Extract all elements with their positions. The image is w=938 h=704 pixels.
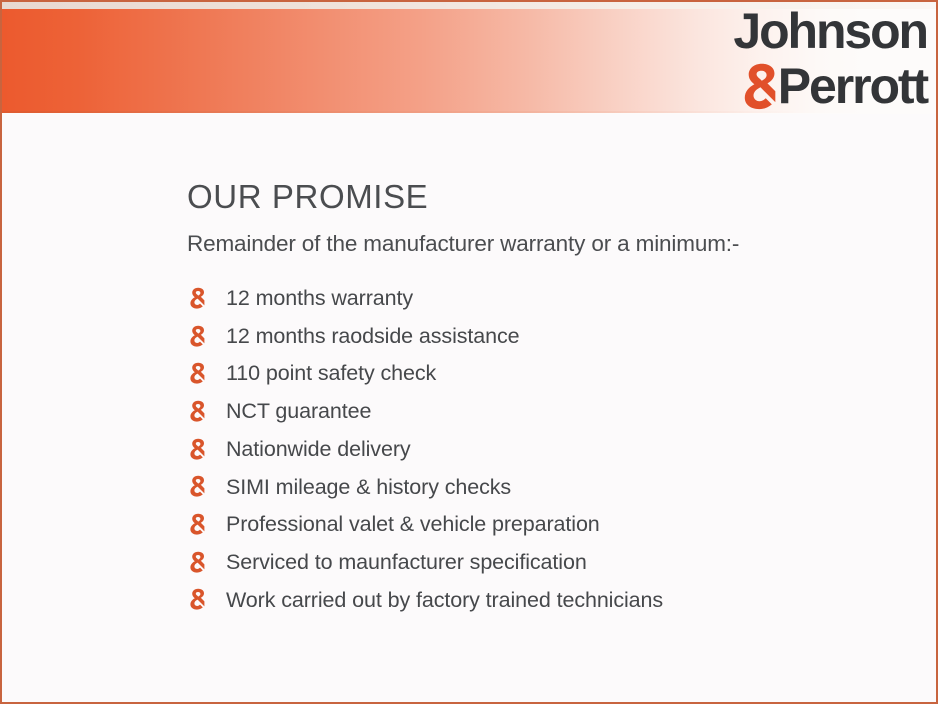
promise-list: 12 months warranty 12 months raodside as… [185, 280, 663, 619]
list-item-label: Professional valet & vehicle preparation [226, 514, 600, 536]
list-item-label: Serviced to maunfacturer specification [226, 552, 587, 574]
list-item-label: Work carried out by factory trained tech… [226, 590, 663, 612]
page-subtitle: Remainder of the manufacturer warranty o… [187, 231, 739, 257]
list-item: NCT guarantee [185, 393, 663, 431]
logo-perrott-text: Perrott [778, 58, 927, 114]
list-item: Serviced to maunfacturer specification [185, 544, 663, 582]
list-item: 110 point safety check [185, 355, 663, 393]
list-item: Professional valet & vehicle preparation [185, 506, 663, 544]
slide-body: OUR PROMISE Remainder of the manufacture… [2, 114, 938, 704]
ampersand-bullet-icon [185, 287, 207, 309]
ampersand-bullet-icon [185, 513, 207, 535]
list-item-label: 110 point safety check [226, 363, 436, 385]
ampersand-bullet-icon [185, 588, 207, 610]
list-item-label: SIMI mileage & history checks [226, 477, 511, 499]
promise-slide: Johnson Perrott OUR PROMISE Remainder of… [0, 0, 938, 704]
page-title: OUR PROMISE [187, 178, 428, 216]
brand-header: Johnson Perrott [2, 2, 938, 114]
list-item-label: Nationwide delivery [226, 439, 411, 461]
list-item: Nationwide delivery [185, 431, 663, 469]
list-item: 12 months warranty [185, 280, 663, 318]
ampersand-bullet-icon [185, 325, 207, 347]
ampersand-bullet-icon [185, 362, 207, 384]
logo-line-perrott: Perrott [733, 55, 927, 109]
list-item: SIMI mileage & history checks [185, 468, 663, 506]
list-item-label: 12 months raodside assistance [226, 326, 520, 348]
list-item: Work carried out by factory trained tech… [185, 582, 663, 620]
list-item: 12 months raodside assistance [185, 318, 663, 356]
ampersand-icon [735, 62, 779, 110]
johnson-perrott-logo: Johnson Perrott [733, 8, 927, 109]
ampersand-bullet-icon [185, 438, 207, 460]
logo-line-johnson: Johnson [733, 8, 927, 54]
ampersand-bullet-icon [185, 475, 207, 497]
ampersand-bullet-icon [185, 551, 207, 573]
ampersand-bullet-icon [185, 400, 207, 422]
list-item-label: NCT guarantee [226, 401, 371, 423]
list-item-label: 12 months warranty [226, 288, 413, 310]
